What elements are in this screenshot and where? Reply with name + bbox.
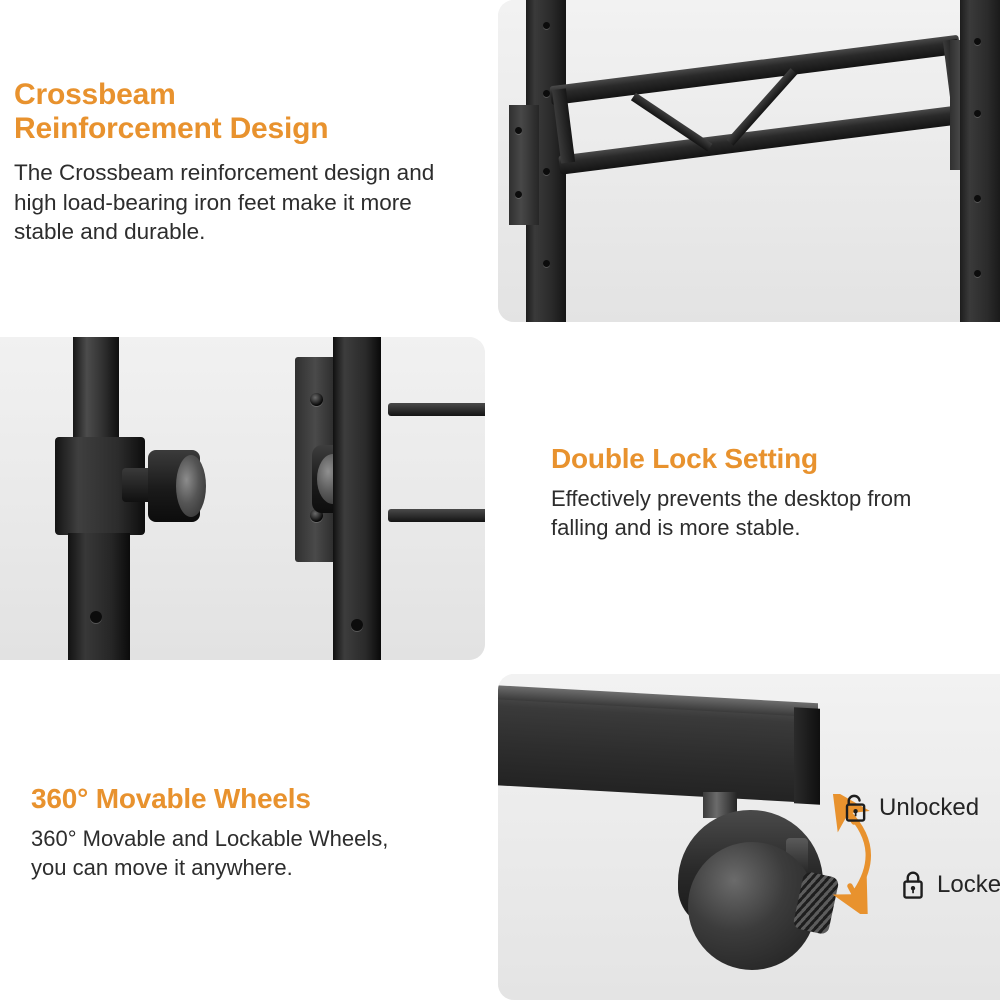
infographic-page: Crossbeam Reinforcement Design The Cross… — [0, 0, 1000, 1000]
post-hole — [90, 611, 102, 623]
wheels-body-line1: 360° Movable and Lockable Wheels, — [31, 826, 388, 851]
post-hole — [543, 22, 550, 29]
double-lock-heading: Double Lock Setting — [551, 443, 991, 475]
vertical-post-right — [960, 0, 1000, 322]
bracket-hole — [515, 127, 522, 134]
side-rail-bottom — [388, 509, 485, 522]
feature-block-crossbeam: Crossbeam Reinforcement Design The Cross… — [14, 78, 484, 246]
double-lock-body: Effectively prevents the desktop from fa… — [551, 485, 991, 542]
round-tube — [73, 337, 119, 444]
post-hole — [543, 90, 550, 97]
post-hole — [974, 110, 981, 117]
legend-row-locked: Locked — [898, 869, 1000, 901]
smooth-lock-knob-cap — [176, 455, 206, 517]
crossbeam-body-line1: The Crossbeam reinforcement design and — [14, 160, 434, 185]
wheels-body: 360° Movable and Lockable Wheels, you ca… — [31, 825, 481, 882]
post-hole — [974, 195, 981, 202]
wheels-heading: 360° Movable Wheels — [31, 783, 481, 815]
post-hole — [543, 168, 550, 175]
locked-label: Locked — [937, 871, 1000, 899]
post-hole — [974, 270, 981, 277]
plate-hole — [310, 393, 323, 406]
crossbeam-body-line2: high load-bearing iron feet make it more — [14, 190, 412, 215]
post-hole — [543, 260, 550, 267]
wheels-body-line2: you can move it anywhere. — [31, 855, 293, 880]
crossbeam-photo-panel — [498, 0, 1000, 322]
crossbeam-heading-line1: Crossbeam — [14, 78, 176, 111]
legend-row-unlocked: Unlocked — [840, 792, 979, 824]
vertical-post-right — [333, 337, 381, 660]
post-hole — [351, 619, 363, 631]
crossbeam-heading-line2: Reinforcement Design — [14, 112, 328, 145]
lock-state-legend: Unlocked Locked — [498, 674, 1000, 1000]
mounting-bracket-left — [509, 105, 539, 225]
crossbeam-body-line3: stable and durable. — [14, 219, 205, 244]
side-rail-top — [388, 403, 485, 416]
unlock-icon — [840, 792, 870, 824]
double-lock-body-line1: Effectively prevents the desktop from — [551, 486, 911, 511]
wheels-photo-panel: Unlocked Locked — [498, 674, 1000, 1000]
feature-block-wheels: 360° Movable Wheels 360° Movable and Loc… — [31, 783, 481, 882]
feature-block-double-lock: Double Lock Setting Effectively prevents… — [551, 443, 991, 542]
lower-post-left — [68, 533, 130, 660]
post-hole — [974, 38, 981, 45]
crossbeam-heading: Crossbeam Reinforcement Design — [14, 78, 484, 146]
double-lock-body-line2: falling and is more stable. — [551, 515, 800, 540]
unlocked-label: Unlocked — [879, 794, 979, 822]
lock-icon — [898, 869, 928, 901]
crossbeam-body: The Crossbeam reinforcement design and h… — [14, 158, 484, 246]
bracket-hole — [515, 191, 522, 198]
double-lock-photo-panel — [0, 337, 485, 660]
